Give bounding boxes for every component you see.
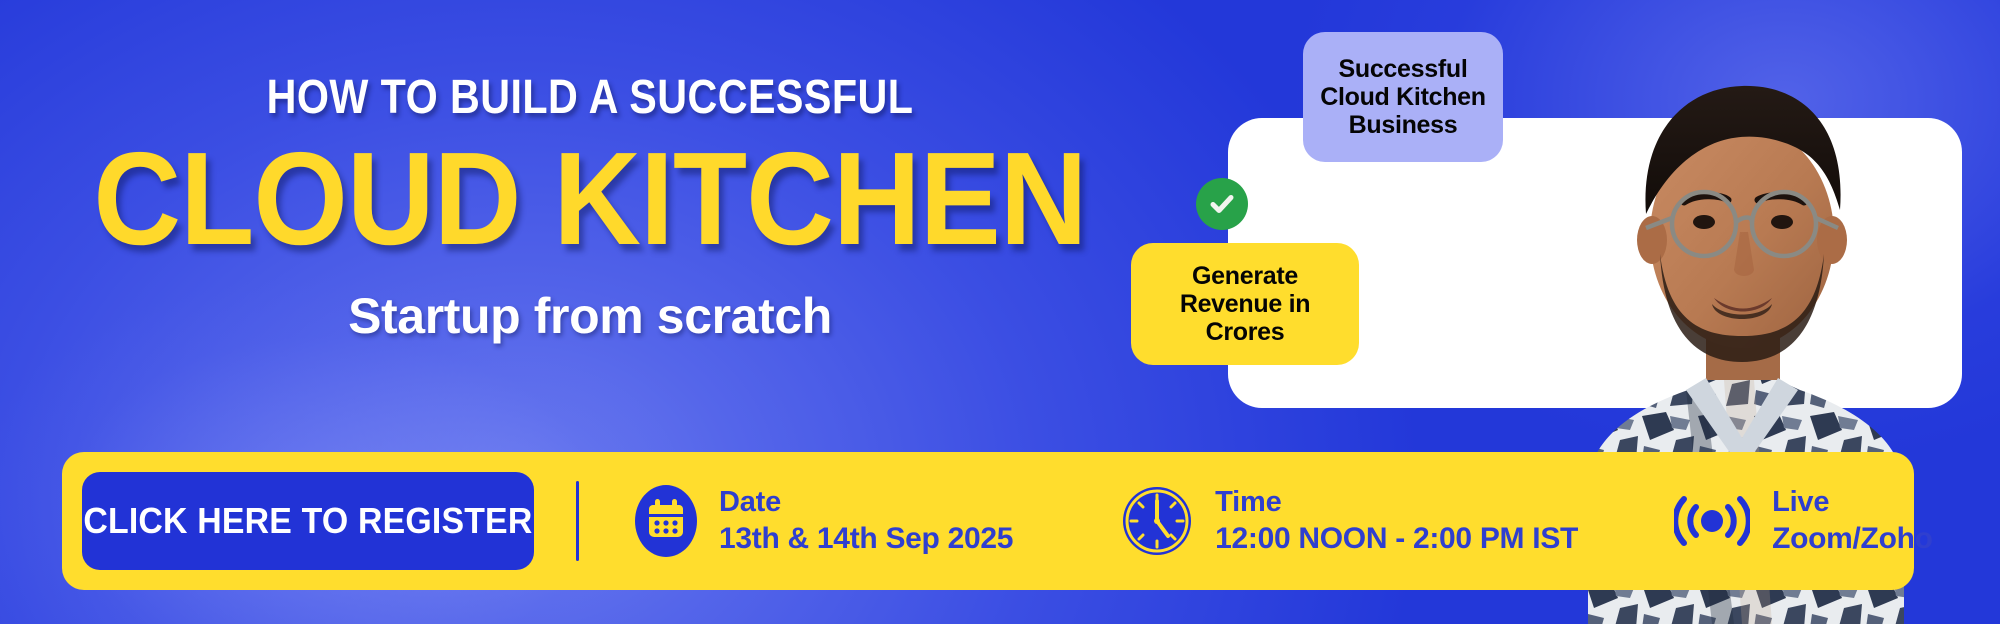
cta-divider <box>576 481 579 561</box>
info-value-live: Zoom/Zoho <box>1772 523 1933 555</box>
check-icon <box>1207 189 1237 219</box>
benefit-card-revenue: Generate Revenue in Crores <box>1131 243 1359 365</box>
cta-bar: CLICK HERE TO REGISTER Date 13th <box>62 452 1914 590</box>
info-item-time: Time 12:00 NOON - 2:00 PM IST <box>1121 485 1578 557</box>
broadcast-icon <box>1674 490 1750 552</box>
check-badge <box>1196 178 1248 230</box>
headline-sub: Startup from scratch <box>0 291 1180 341</box>
info-value-time: 12:00 NOON - 2:00 PM IST <box>1215 523 1578 555</box>
headline-main: CLOUD KITCHEN <box>47 132 1133 267</box>
info-item-date-text: Date 13th & 14th Sep 2025 <box>719 487 1013 556</box>
benefit-card-revenue-text: Generate Revenue in Crores <box>1180 262 1310 346</box>
clock-icon <box>1121 485 1193 557</box>
benefit-card-business-text: Successful Cloud Kitchen Business <box>1320 55 1486 139</box>
info-item-date: Date 13th & 14th Sep 2025 <box>635 485 1013 557</box>
register-button-label: CLICK HERE TO REGISTER <box>83 500 532 542</box>
headline-kicker: HOW TO BUILD A SUCCESSFUL <box>83 74 1098 122</box>
calendar-icon <box>635 485 697 557</box>
webinar-promo-banner: HOW TO BUILD A SUCCESSFUL CLOUD KITCHEN … <box>0 0 2000 624</box>
info-label-live: Live <box>1772 487 1933 518</box>
info-item-live: Live Zoom/Zoho <box>1674 487 1933 556</box>
info-item-time-text: Time 12:00 NOON - 2:00 PM IST <box>1215 487 1578 556</box>
benefit-card-business: Successful Cloud Kitchen Business <box>1303 32 1503 162</box>
info-item-live-text: Live Zoom/Zoho <box>1772 487 1933 556</box>
info-value-date: 13th & 14th Sep 2025 <box>719 523 1013 555</box>
register-button[interactable]: CLICK HERE TO REGISTER <box>82 472 534 570</box>
info-label-date: Date <box>719 487 1013 518</box>
info-label-time: Time <box>1215 487 1578 518</box>
headline-block: HOW TO BUILD A SUCCESSFUL CLOUD KITCHEN … <box>0 74 1180 341</box>
